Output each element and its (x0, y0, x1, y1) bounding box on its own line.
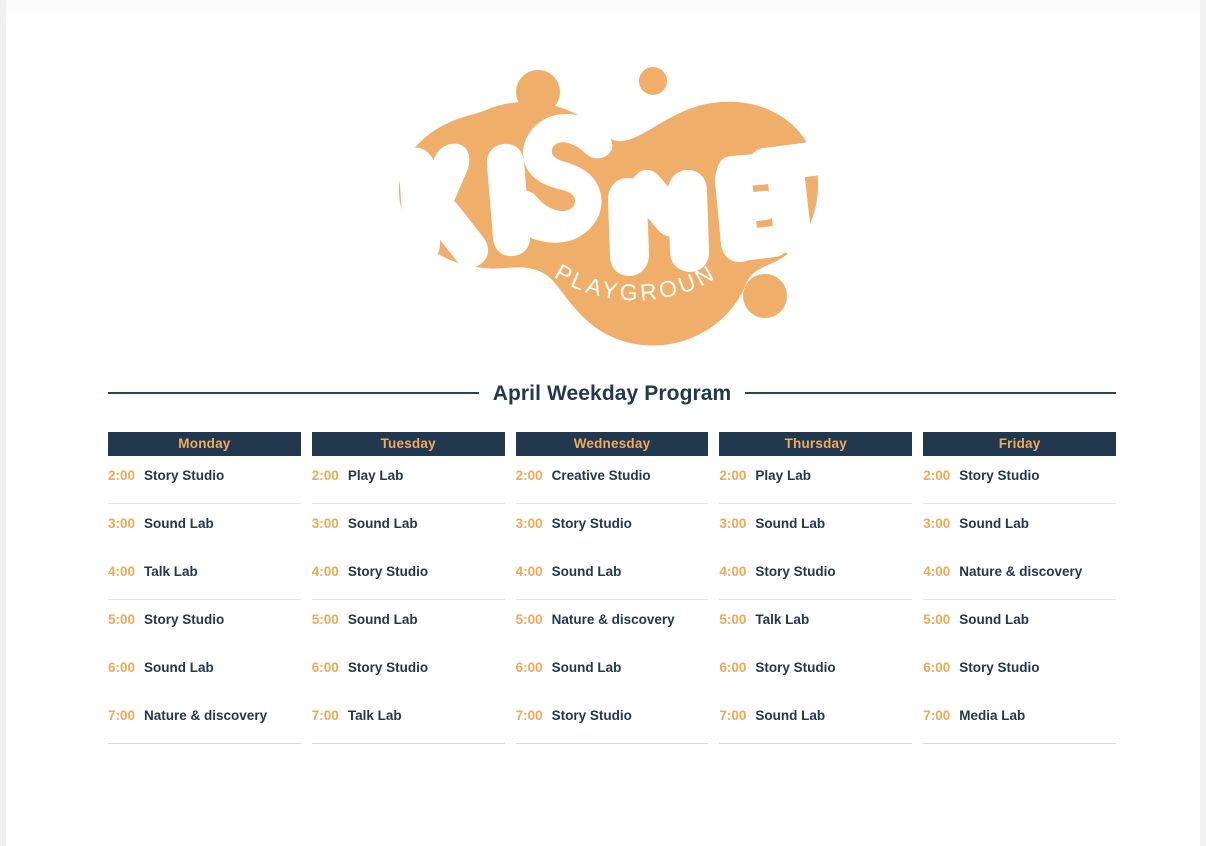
slot-time: 2:00 (719, 469, 746, 483)
slot-activity: Nature & discovery (959, 565, 1082, 579)
slot-activity: Sound Lab (959, 613, 1029, 627)
slot-time: 4:00 (108, 565, 135, 579)
slot-time: 7:00 (108, 709, 135, 723)
slot-activity: Sound Lab (144, 661, 214, 675)
day-header-label: Monday (178, 437, 230, 451)
slot-activity: Sound Lab (348, 517, 418, 531)
slot-activity: Story Studio (144, 469, 224, 483)
slot-activity: Nature & discovery (552, 613, 675, 627)
slot-time: 4:00 (923, 565, 950, 579)
day-column-friday: Friday2:00Story Studio3:00Sound Lab4:00N… (923, 432, 1116, 744)
slot-activity: Story Studio (348, 565, 428, 579)
slot-activity: Story Studio (755, 661, 835, 675)
day-column-wednesday: Wednesday2:00Creative Studio3:00Story St… (516, 432, 709, 744)
program-title-band: April Weekday Program (108, 378, 1116, 408)
slot-activity: Play Lab (755, 469, 811, 483)
slot-time: 3:00 (923, 517, 950, 531)
slot-time: 5:00 (312, 613, 339, 627)
slot-time: 2:00 (923, 469, 950, 483)
title-rule-left (108, 392, 479, 394)
logo-svg: PLAYGROUND (366, 52, 836, 372)
schedule-slot-row[interactable]: 2:00Story Studio (108, 456, 301, 504)
slot-activity: Sound Lab (552, 661, 622, 675)
schedule-slot-row[interactable]: 4:00Story Studio (312, 552, 505, 600)
slot-activity: Story Studio (959, 469, 1039, 483)
schedule-slot-row[interactable]: 4:00Story Studio (719, 552, 912, 600)
slot-activity: Play Lab (348, 469, 404, 483)
day-header[interactable]: Thursday (719, 432, 912, 456)
schedule-slot-row[interactable]: 5:00Sound Lab (923, 600, 1116, 648)
slot-time: 3:00 (719, 517, 746, 531)
schedule-slot-row[interactable]: 5:00Talk Lab (719, 600, 912, 648)
slot-time: 3:00 (108, 517, 135, 531)
slot-time: 6:00 (923, 661, 950, 675)
slot-activity: Media Lab (959, 709, 1025, 723)
slot-time: 5:00 (108, 613, 135, 627)
slot-list: 2:00Story Studio3:00Sound Lab4:00Talk La… (108, 456, 301, 744)
slot-time: 2:00 (108, 469, 135, 483)
slot-list: 2:00Story Studio3:00Sound Lab4:00Nature … (923, 456, 1116, 744)
logo-dot-bottom-icon (743, 274, 787, 318)
schedule-slot-row[interactable]: 6:00Sound Lab (108, 648, 301, 696)
schedule-slot-row[interactable]: 2:00Story Studio (923, 456, 1116, 504)
day-header[interactable]: Wednesday (516, 432, 709, 456)
schedule-slot-row[interactable]: 7:00Nature & discovery (108, 696, 301, 744)
slot-time: 6:00 (719, 661, 746, 675)
day-header[interactable]: Friday (923, 432, 1116, 456)
day-column-thursday: Thursday2:00Play Lab3:00Sound Lab4:00Sto… (719, 432, 912, 744)
schedule-slot-row[interactable]: 3:00Sound Lab (719, 504, 912, 552)
slot-activity: Sound Lab (755, 517, 825, 531)
schedule-slot-row[interactable]: 7:00Sound Lab (719, 696, 912, 744)
day-header-label: Thursday (785, 437, 847, 451)
slot-time: 7:00 (516, 709, 543, 723)
day-column-monday: Monday2:00Story Studio3:00Sound Lab4:00T… (108, 432, 301, 744)
kismet-playground-logo: PLAYGROUND (366, 52, 836, 372)
day-header[interactable]: Monday (108, 432, 301, 456)
day-column-tuesday: Tuesday2:00Play Lab3:00Sound Lab4:00Stor… (312, 432, 505, 744)
schedule-slot-row[interactable]: 6:00Story Studio (719, 648, 912, 696)
schedule-slot-row[interactable]: 3:00Sound Lab (312, 504, 505, 552)
slot-list: 2:00Creative Studio3:00Story Studio4:00S… (516, 456, 709, 744)
slot-time: 4:00 (719, 565, 746, 579)
slot-list: 2:00Play Lab3:00Sound Lab4:00Story Studi… (719, 456, 912, 744)
slot-activity: Creative Studio (552, 469, 651, 483)
slot-time: 2:00 (516, 469, 543, 483)
title-rule-right (745, 392, 1116, 394)
slot-time: 5:00 (719, 613, 746, 627)
slot-time: 7:00 (312, 709, 339, 723)
slot-time: 5:00 (923, 613, 950, 627)
slot-activity: Story Studio (755, 565, 835, 579)
slot-time: 4:00 (516, 565, 543, 579)
schedule-slot-row[interactable]: 4:00Talk Lab (108, 552, 301, 600)
day-header-label: Friday (999, 437, 1041, 451)
slot-activity: Sound Lab (348, 613, 418, 627)
slot-list: 2:00Play Lab3:00Sound Lab4:00Story Studi… (312, 456, 505, 744)
schedule-slot-row[interactable]: 6:00Story Studio (923, 648, 1116, 696)
weekday-schedule-grid: Monday2:00Story Studio3:00Sound Lab4:00T… (108, 432, 1116, 744)
program-flyer-page: PLAYGROUND April Weekday Program Monday2… (6, 0, 1200, 846)
schedule-slot-row[interactable]: 5:00Nature & discovery (516, 600, 709, 648)
schedule-slot-row[interactable]: 3:00Sound Lab (923, 504, 1116, 552)
slot-time: 6:00 (312, 661, 339, 675)
day-header-label: Tuesday (381, 437, 436, 451)
schedule-slot-row[interactable]: 2:00Creative Studio (516, 456, 709, 504)
schedule-slot-row[interactable]: 4:00Sound Lab (516, 552, 709, 600)
slot-activity: Story Studio (144, 613, 224, 627)
slot-activity: Sound Lab (144, 517, 214, 531)
schedule-slot-row[interactable]: 2:00Play Lab (719, 456, 912, 504)
schedule-slot-row[interactable]: 7:00Story Studio (516, 696, 709, 744)
slot-time: 3:00 (312, 517, 339, 531)
schedule-slot-row[interactable]: 7:00Talk Lab (312, 696, 505, 744)
day-header-label: Wednesday (574, 437, 651, 451)
slot-activity: Story Studio (959, 661, 1039, 675)
logo-dot-small-icon (639, 67, 667, 95)
slot-activity: Story Studio (552, 709, 632, 723)
schedule-slot-row[interactable]: 6:00Sound Lab (516, 648, 709, 696)
slot-activity: Sound Lab (755, 709, 825, 723)
slot-time: 3:00 (516, 517, 543, 531)
schedule-slot-row[interactable]: 3:00Story Studio (516, 504, 709, 552)
page-title: April Weekday Program (493, 383, 732, 404)
schedule-slot-row[interactable]: 7:00Media Lab (923, 696, 1116, 744)
slot-activity: Sound Lab (552, 565, 622, 579)
schedule-slot-row[interactable]: 5:00Sound Lab (312, 600, 505, 648)
slot-activity: Story Studio (348, 661, 428, 675)
slot-time: 2:00 (312, 469, 339, 483)
slot-time: 4:00 (312, 565, 339, 579)
slot-activity: Talk Lab (348, 709, 402, 723)
slot-activity: Nature & discovery (144, 709, 267, 723)
slot-time: 7:00 (719, 709, 746, 723)
slot-activity: Sound Lab (959, 517, 1029, 531)
slot-time: 6:00 (108, 661, 135, 675)
slot-activity: Talk Lab (144, 565, 198, 579)
schedule-slot-row[interactable]: 6:00Story Studio (312, 648, 505, 696)
day-header[interactable]: Tuesday (312, 432, 505, 456)
schedule-slot-row[interactable]: 2:00Play Lab (312, 456, 505, 504)
slot-time: 6:00 (516, 661, 543, 675)
slot-activity: Story Studio (552, 517, 632, 531)
schedule-slot-row[interactable]: 5:00Story Studio (108, 600, 301, 648)
slot-time: 7:00 (923, 709, 950, 723)
slot-time: 5:00 (516, 613, 543, 627)
schedule-slot-row[interactable]: 3:00Sound Lab (108, 504, 301, 552)
slot-activity: Talk Lab (755, 613, 809, 627)
schedule-slot-row[interactable]: 4:00Nature & discovery (923, 552, 1116, 600)
